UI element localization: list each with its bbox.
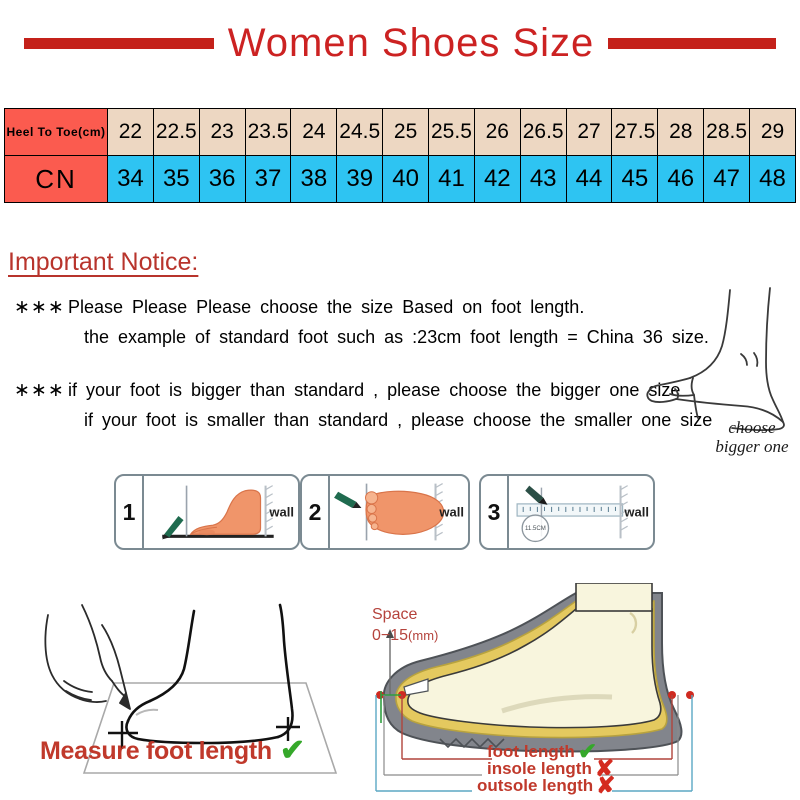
notice-text: if your foot is smaller than standard , … — [68, 405, 712, 435]
cn-cell: 42 — [474, 156, 520, 203]
wall-label: wall — [439, 505, 464, 520]
cm-cell: 25 — [383, 109, 429, 156]
cm-cell: 26.5 — [520, 109, 566, 156]
notice-row: ∗∗∗ if your foot is smaller than standar… — [14, 405, 712, 435]
step-number: 2 — [302, 476, 330, 548]
row-header-cn: CN — [5, 156, 108, 203]
step-3-illustration: 11.5CM wall — [509, 476, 653, 548]
asterisk-icon: ∗∗∗ — [14, 379, 68, 402]
wall-label: wall — [269, 505, 294, 520]
step-number: 1 — [116, 476, 144, 548]
page-header: Women Shoes Size — [0, 12, 800, 74]
notice-block-2: ∗∗∗ if your foot is bigger than standard… — [14, 375, 712, 435]
cm-cell: 23 — [199, 109, 245, 156]
cn-cell: 35 — [153, 156, 199, 203]
step-1-illustration: wall — [144, 476, 298, 548]
cm-cell: 26 — [474, 109, 520, 156]
cn-cell: 45 — [612, 156, 658, 203]
cn-cell: 37 — [245, 156, 291, 203]
cm-cell: 27 — [566, 109, 612, 156]
cm-cell: 27.5 — [612, 109, 658, 156]
cn-cell: 40 — [383, 156, 429, 203]
cn-cell: 44 — [566, 156, 612, 203]
notice-text: if your foot is bigger than standard , p… — [68, 375, 680, 405]
cn-cell: 36 — [199, 156, 245, 203]
cn-cell: 46 — [658, 156, 704, 203]
measure-caption-text: Measure foot length — [40, 737, 272, 766]
cm-cell: 28 — [658, 109, 704, 156]
cm-cell: 28.5 — [704, 109, 750, 156]
space-label-line1: Space — [372, 604, 438, 625]
step-panel-1: 1 wall — [114, 474, 300, 550]
title-rule-right — [608, 38, 776, 49]
space-label: Space 0−15(mm) — [372, 604, 438, 646]
cn-cell: 48 — [750, 156, 796, 203]
asterisk-icon: ∗∗∗ — [14, 296, 68, 319]
choose-bigger-one-caption: choose bigger one — [692, 418, 800, 456]
cm-cell: 24 — [291, 109, 337, 156]
cn-cell: 39 — [337, 156, 383, 203]
step-2-illustration: wall — [330, 476, 468, 548]
cn-cell: 41 — [429, 156, 475, 203]
space-label-unit: (mm) — [408, 628, 438, 643]
table-row-heel-to-toe: Heel To Toe(cm) 2222.52323.52424.52525.5… — [5, 109, 796, 156]
cn-cell: 38 — [291, 156, 337, 203]
notice-text: Please Please Please choose the size Bas… — [68, 292, 584, 322]
notice-row: ∗∗∗ if your foot is bigger than standard… — [14, 375, 712, 405]
cn-cell: 43 — [520, 156, 566, 203]
cn-cell: 47 — [704, 156, 750, 203]
measure-foot-length-caption: Measure foot length ✔ — [40, 736, 305, 766]
page-title: Women Shoes Size — [214, 21, 609, 66]
wall-label: wall — [624, 505, 649, 520]
cm-cell: 24.5 — [337, 109, 383, 156]
choose-bigger-line2: bigger one — [692, 437, 800, 456]
cm-cell: 22 — [108, 109, 154, 156]
row-header-heel-to-toe: Heel To Toe(cm) — [5, 109, 108, 156]
size-conversion-table: Heel To Toe(cm) 2222.52323.52424.52525.5… — [4, 108, 796, 203]
cross-icon: ✘ — [596, 774, 615, 797]
cm-cell: 23.5 — [245, 109, 291, 156]
notice-text: the example of standard foot such as :23… — [68, 322, 709, 352]
svg-text:11.5CM: 11.5CM — [525, 525, 546, 532]
cm-cell: 25.5 — [429, 109, 475, 156]
check-icon: ✔ — [280, 736, 305, 766]
step-number: 3 — [481, 476, 509, 548]
table-row-cn: CN 343536373839404142434445464748 — [5, 156, 796, 203]
title-rule-left — [24, 38, 214, 49]
outsole-length-text: outsole length — [477, 776, 593, 796]
notice-row: ∗∗∗ Please Please Please choose the size… — [14, 292, 709, 322]
choose-bigger-line1: choose — [692, 418, 800, 437]
step-panel-3: 3 — [479, 474, 655, 550]
cm-cell: 22.5 — [153, 109, 199, 156]
notice-row: ∗∗∗ the example of standard foot such as… — [14, 322, 709, 352]
outsole-length-label: outsole length ✘ — [477, 774, 615, 797]
notice-title: Important Notice: — [8, 248, 198, 277]
notice-block-1: ∗∗∗ Please Please Please choose the size… — [14, 292, 709, 352]
cn-cell: 34 — [108, 156, 154, 203]
cm-cell: 29 — [750, 109, 796, 156]
step-panel-2: 2 wall — [300, 474, 470, 550]
space-label-value: 0−15 — [372, 627, 408, 644]
